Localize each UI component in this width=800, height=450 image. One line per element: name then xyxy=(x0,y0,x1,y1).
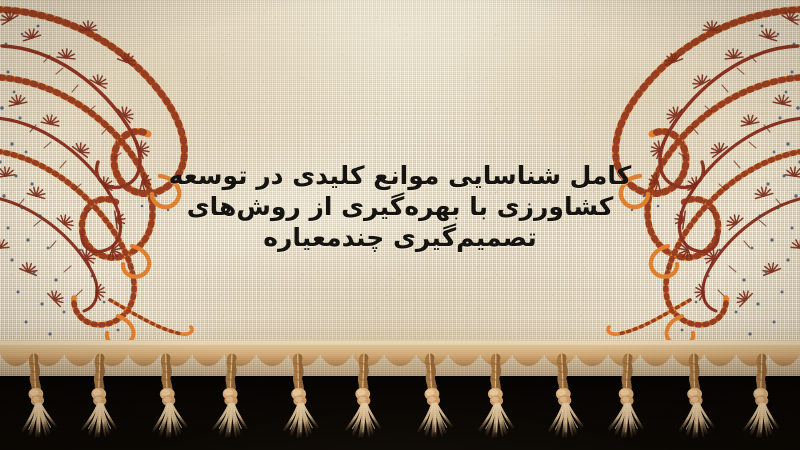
slide-canvas: کامل شناسایی موانع کلیدی در توسعه کشاورز… xyxy=(0,0,800,450)
title-line-1: کامل شناسایی موانع کلیدی در توسعه xyxy=(0,160,800,191)
title-line-3: تصمیم‌گیری چندمعیاره xyxy=(0,222,800,253)
hem-shading xyxy=(0,320,800,376)
title-line-2: کشاورزی با بهره‌گیری از روش‌های xyxy=(0,191,800,222)
slide-title: کامل شناسایی موانع کلیدی در توسعه کشاورز… xyxy=(0,160,800,253)
